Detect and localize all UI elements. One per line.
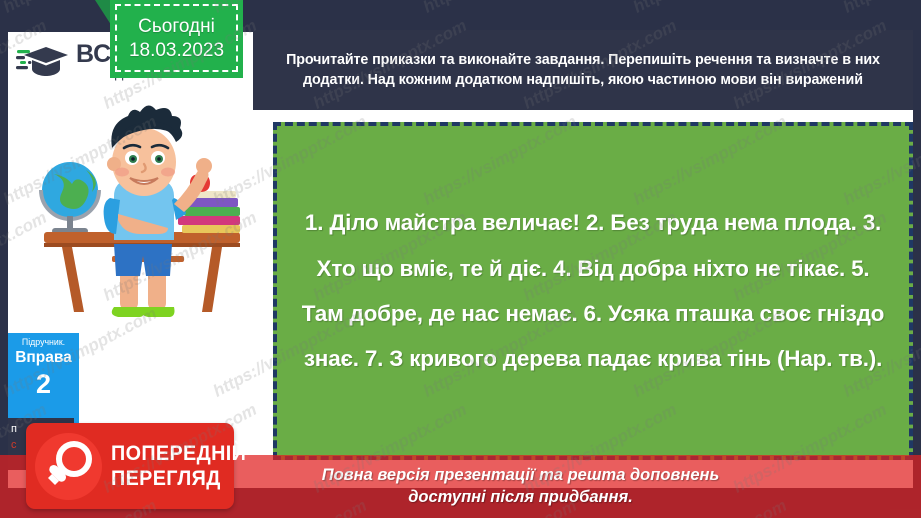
exercise-label: Вправа [8, 348, 79, 369]
graduation-cap-icon [16, 39, 72, 83]
watermark-text: https://vsimpptx.com [840, 0, 921, 18]
instruction-text: Прочитайте приказки та виконайте завданн… [265, 50, 901, 91]
proverbs-text: 1. Діло майстра величає! 2. Без труда не… [293, 200, 893, 382]
exercise-tag: Підручник. Вправа 2 [8, 333, 79, 428]
today-date-badge: Сьогодні 18.03.2023 [110, 0, 243, 78]
exercise-number: 2 [8, 369, 79, 400]
proverbs-content-box: 1. Діло майстра величає! 2. Без труда не… [273, 122, 913, 460]
instruction-panel: Прочитайте приказки та виконайте завданн… [253, 30, 913, 110]
purchase-notice-line-2: доступні після придбання. [408, 487, 633, 508]
purchase-notice-line-1: Повна версія презентації та решта доповн… [322, 465, 720, 486]
watermark-text: https://vsimpptx.com [420, 0, 580, 18]
slide-canvas: ВСІМ pptx Сьогодні 18.03.2023 Прочитайте… [0, 0, 921, 518]
boy-at-desk-illustration [14, 104, 266, 336]
watermark-text: https://vsimpptx.com [630, 0, 790, 18]
preview-badge-line-2: ПЕРЕГЛЯД [111, 468, 246, 490]
today-label: Сьогодні [138, 16, 215, 38]
globe-icon [41, 162, 99, 234]
preview-badge-line-1: ПОПЕРЕДНІЙ [111, 443, 246, 465]
today-date-value: 18.03.2023 [129, 40, 224, 62]
preview-badge[interactable]: ПОПЕРЕДНІЙ ПЕРЕГЛЯД [26, 423, 234, 509]
magnifier-icon [35, 433, 102, 500]
exercise-source: Підручник. [8, 337, 79, 348]
